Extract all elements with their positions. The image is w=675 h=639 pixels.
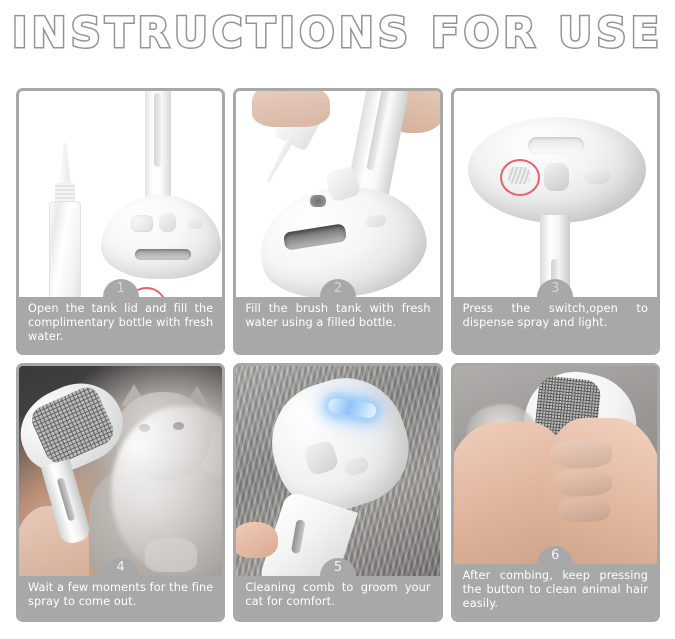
step-caption-3: Press the switch,open to dispense spray … [454, 297, 657, 352]
step-caption-6: After combing, keep pressing the button … [454, 564, 657, 619]
step-image-1: 1 [19, 91, 222, 297]
device-button-icon [584, 169, 610, 184]
step-panel-2: 2 Fill the brush tank with fresh water u… [233, 88, 442, 355]
handle-slot-icon [154, 93, 161, 167]
device-handle-icon [145, 91, 171, 211]
device-knob-icon [159, 213, 176, 232]
device-head-icon [257, 366, 424, 526]
device-button-icon [187, 218, 203, 229]
squeeze-bottle-icon [45, 143, 85, 297]
finger-icon [558, 498, 610, 522]
step-number-5: 5 [320, 558, 356, 576]
step-image-5: 5 [236, 366, 439, 576]
handle-slot-icon [366, 91, 389, 171]
device-vent-icon [135, 249, 191, 260]
highlight-ring-icon [500, 159, 540, 196]
page-title-container: INSTRUCTIONS FOR USE [0, 6, 675, 60]
step-number-2: 2 [320, 279, 356, 297]
illustration-bottle-and-base [19, 91, 222, 297]
step-number-6: 6 [537, 546, 573, 564]
steps-grid: 1 Open the tank lid and fill the complim… [16, 88, 660, 622]
step-number-3: 3 [537, 279, 573, 297]
handle-slot-icon [57, 477, 76, 521]
step-caption-5: Cleaning comb to groom your cat for comf… [236, 576, 439, 619]
step-number-badge-6: 6 [537, 546, 573, 564]
brush-device-icon [101, 91, 221, 297]
step-panel-1: 1 Open the tank lid and fill the complim… [16, 88, 225, 355]
hand-icon [236, 522, 278, 558]
step-caption-1: Open the tank lid and fill the complimen… [19, 297, 222, 352]
step-number-badge-2: 2 [320, 279, 356, 297]
illustration-spraying-cat [19, 366, 222, 576]
step-number-badge-4: 4 [103, 558, 139, 576]
finger-icon [550, 440, 612, 468]
step-image-6: 6 [454, 366, 657, 564]
handle-slot-icon [291, 519, 306, 554]
bottle-tip-icon [263, 137, 295, 185]
illustration-filling-tank [236, 91, 439, 297]
step-panel-5: 5 Cleaning comb to groom your cat for co… [233, 363, 442, 622]
step-number-badge-1: 1 [103, 279, 139, 297]
illustration-grooming [236, 366, 439, 576]
step-panel-3: 3 Press the switch,open to dispense spra… [451, 88, 660, 355]
device-head-icon [101, 195, 221, 279]
step-image-3: 3 [454, 91, 657, 297]
device-vent-icon [528, 137, 584, 154]
step-number-4: 4 [103, 558, 139, 576]
step-number-badge-5: 5 [320, 558, 356, 576]
bottle-body-icon [49, 201, 81, 297]
step-number-1: 1 [103, 279, 139, 297]
instructions-poster: INSTRUCTIONS FOR USE [0, 0, 675, 639]
page-title: INSTRUCTIONS FOR USE [12, 6, 663, 60]
illustration-switch-closeup [454, 91, 657, 297]
tank-opening-icon [310, 195, 326, 207]
illustration-cleaning-hair [454, 366, 657, 564]
step-panel-6: 6 After combing, keep pressing the butto… [451, 363, 660, 622]
device-knob-icon [544, 163, 569, 191]
bottle-tip-icon [59, 143, 71, 187]
step-caption-2: Fill the brush tank with fresh water usi… [236, 297, 439, 352]
tank-lid-icon [131, 215, 153, 232]
finger-icon [554, 470, 612, 496]
step-panel-4: 4 Wait a few moments for the fine spray … [16, 363, 225, 622]
step-number-badge-3: 3 [537, 279, 573, 297]
step-caption-4: Wait a few moments for the fine spray to… [19, 576, 222, 619]
hand-left-icon [252, 91, 330, 127]
step-image-4: 4 [19, 366, 222, 576]
step-image-2: 2 [236, 91, 439, 297]
